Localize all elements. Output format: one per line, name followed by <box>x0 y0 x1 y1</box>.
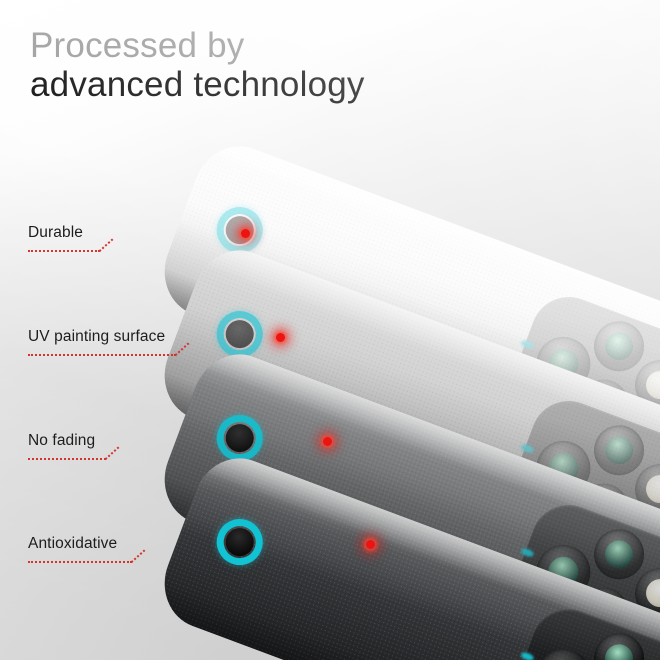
callout-label: UV painting surface <box>28 328 165 346</box>
product-marketing-image: Processed by advanced technology Durable… <box>0 0 660 660</box>
callout-label: Antioxidative <box>28 535 117 553</box>
callout-0[interactable]: Durable <box>28 222 29 252</box>
callout-underline <box>28 561 132 563</box>
callout-underline <box>28 250 100 252</box>
callout-underline <box>28 458 106 460</box>
callout-1[interactable]: UV painting surface <box>28 326 29 356</box>
callout-label: Durable <box>28 224 83 242</box>
title-line-1: Processed by <box>30 26 365 65</box>
callout-2[interactable]: No fading <box>28 430 29 460</box>
title-line-2: advanced technology <box>30 65 365 104</box>
callout-3[interactable]: Antioxidative <box>28 533 29 563</box>
page-title: Processed by advanced technology <box>30 26 365 104</box>
callout-label: No fading <box>28 432 95 450</box>
callout-underline <box>28 354 176 356</box>
